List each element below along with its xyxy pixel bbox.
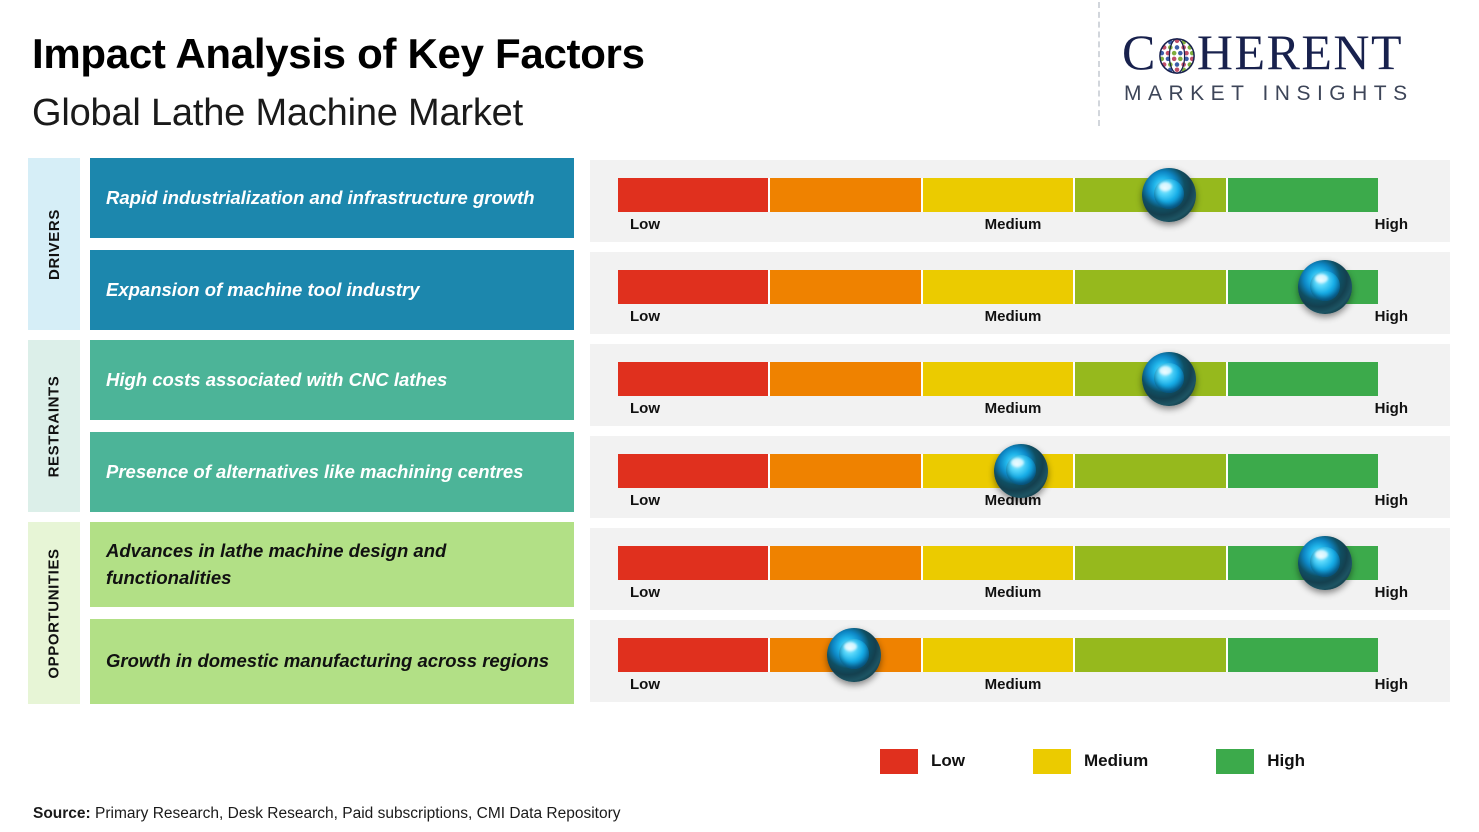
impact-marker[interactable] — [1142, 168, 1196, 222]
slide-header: Impact Analysis of Key Factors Global La… — [0, 0, 1479, 150]
gauge-list: LowMediumHighLowMediumHighLowMediumHighL… — [590, 150, 1450, 710]
gauge-segment-3 — [923, 270, 1075, 304]
factor-box[interactable]: Growth in domestic manufacturing across … — [90, 619, 574, 704]
gauge-label-medium: Medium — [985, 308, 1042, 325]
gauge-row: LowMediumHigh — [590, 436, 1450, 518]
category-block-restraints: RESTRAINTS — [28, 340, 80, 512]
gauge-segment-3 — [923, 638, 1075, 672]
source-note: Source: Primary Research, Desk Research,… — [33, 805, 621, 823]
gauge-label-high: High — [1375, 492, 1408, 509]
logo-letter-c: C — [1122, 24, 1157, 80]
gauge-segment-3 — [923, 546, 1075, 580]
gauge-scale-labels: LowMediumHigh — [618, 584, 1408, 606]
legend-label: Low — [931, 751, 965, 771]
gauge-segment-5 — [1228, 178, 1378, 212]
gauge-segment-4 — [1075, 546, 1227, 580]
category-block-drivers: DRIVERS — [28, 158, 80, 330]
gauge-segment-5 — [1228, 454, 1378, 488]
source-label: Source: — [33, 805, 91, 822]
category-rail: DRIVERSRESTRAINTSOPPORTUNITIES — [28, 150, 80, 710]
gauge-label-low: Low — [630, 400, 660, 417]
source-text: Primary Research, Desk Research, Paid su… — [91, 805, 621, 822]
factor-label: High costs associated with CNC lathes — [106, 367, 447, 394]
gauge-label-low: Low — [630, 308, 660, 325]
gauge-segment-5 — [1228, 362, 1378, 396]
company-logo: C — [1122, 26, 1462, 112]
gauge-label-medium: Medium — [985, 676, 1042, 693]
legend-item: Low — [880, 749, 965, 774]
gauge-segment-3 — [923, 178, 1075, 212]
globe-dots-icon — [1158, 32, 1196, 70]
gauge-label-medium: Medium — [985, 216, 1042, 233]
gauge-track — [618, 638, 1378, 672]
gauge-label-medium: Medium — [985, 584, 1042, 601]
gauge-segment-4 — [1075, 638, 1227, 672]
gauge-label-high: High — [1375, 308, 1408, 325]
gauge-segment-5 — [1228, 638, 1378, 672]
gauge-label-low: Low — [630, 492, 660, 509]
gauge-track — [618, 362, 1378, 396]
factor-box[interactable]: Expansion of machine tool industry — [90, 250, 574, 330]
gauge-segment-2 — [770, 178, 922, 212]
gauge-segment-1 — [618, 638, 770, 672]
gauge-segment-2 — [770, 362, 922, 396]
impact-matrix: DRIVERSRESTRAINTSOPPORTUNITIES Rapid ind… — [0, 150, 1479, 720]
impact-legend: LowMediumHigh — [880, 745, 1373, 777]
slide-canvas: Impact Analysis of Key Factors Global La… — [0, 0, 1479, 832]
gauge-scale-labels: LowMediumHigh — [618, 308, 1408, 330]
gauge-scale-labels: LowMediumHigh — [618, 400, 1408, 422]
gauge-label-low: Low — [630, 584, 660, 601]
gauge-segment-1 — [618, 270, 770, 304]
legend-swatch — [1033, 749, 1071, 774]
factor-box[interactable]: High costs associated with CNC lathes — [90, 340, 574, 420]
factor-label: Growth in domestic manufacturing across … — [106, 648, 549, 675]
gauge-track — [618, 270, 1378, 304]
gauge-segment-1 — [618, 362, 770, 396]
gauge-scale-labels: LowMediumHigh — [618, 216, 1408, 238]
gauge-row: LowMediumHigh — [590, 528, 1450, 610]
gauge-segment-3 — [923, 362, 1075, 396]
gauge-label-high: High — [1375, 400, 1408, 417]
logo-word-rest: HERENT — [1197, 24, 1403, 80]
legend-label: High — [1267, 751, 1305, 771]
gauge-row: LowMediumHigh — [590, 620, 1450, 702]
gauge-segment-2 — [770, 270, 922, 304]
gauge-row: LowMediumHigh — [590, 252, 1450, 334]
factor-list: Rapid industrialization and infrastructu… — [90, 150, 574, 710]
impact-marker[interactable] — [1298, 260, 1352, 314]
gauge-row: LowMediumHigh — [590, 344, 1450, 426]
category-block-opportunities: OPPORTUNITIES — [28, 522, 80, 704]
gauge-segment-1 — [618, 454, 770, 488]
gauge-segment-4 — [1075, 270, 1227, 304]
factor-box[interactable]: Rapid industrialization and infrastructu… — [90, 158, 574, 238]
gauge-scale-labels: LowMediumHigh — [618, 676, 1408, 698]
factor-box[interactable]: Advances in lathe machine design and fun… — [90, 522, 574, 607]
legend-item: High — [1216, 749, 1305, 774]
logo-wordmark: C — [1122, 26, 1462, 78]
category-label: RESTRAINTS — [46, 375, 63, 477]
gauge-label-high: High — [1375, 584, 1408, 601]
impact-marker[interactable] — [1298, 536, 1352, 590]
gauge-track — [618, 546, 1378, 580]
gauge-row: LowMediumHigh — [590, 160, 1450, 242]
legend-swatch — [880, 749, 918, 774]
gauge-segment-1 — [618, 178, 770, 212]
factor-box[interactable]: Presence of alternatives like machining … — [90, 432, 574, 512]
factor-label: Rapid industrialization and infrastructu… — [106, 185, 535, 212]
factor-label: Presence of alternatives like machining … — [106, 459, 523, 486]
gauge-segment-4 — [1075, 454, 1227, 488]
gauge-track — [618, 178, 1378, 212]
gauge-label-medium: Medium — [985, 400, 1042, 417]
impact-marker[interactable] — [1142, 352, 1196, 406]
factor-label: Advances in lathe machine design and fun… — [106, 538, 558, 592]
impact-marker[interactable] — [827, 628, 881, 682]
legend-item: Medium — [1033, 749, 1148, 774]
gauge-label-low: Low — [630, 676, 660, 693]
gauge-label-high: High — [1375, 676, 1408, 693]
legend-label: Medium — [1084, 751, 1148, 771]
gauge-segment-2 — [770, 546, 922, 580]
category-label: OPPORTUNITIES — [46, 548, 63, 678]
logo-tagline: MARKET INSIGHTS — [1124, 82, 1414, 106]
gauge-segment-2 — [770, 454, 922, 488]
header-divider — [1098, 2, 1100, 126]
page-subtitle: Global Lathe Machine Market — [32, 92, 523, 135]
page-title: Impact Analysis of Key Factors — [32, 30, 645, 78]
gauge-label-low: Low — [630, 216, 660, 233]
legend-swatch — [1216, 749, 1254, 774]
impact-marker[interactable] — [994, 444, 1048, 498]
category-label: DRIVERS — [46, 209, 63, 280]
gauge-label-high: High — [1375, 216, 1408, 233]
factor-label: Expansion of machine tool industry — [106, 277, 420, 304]
gauge-segment-1 — [618, 546, 770, 580]
